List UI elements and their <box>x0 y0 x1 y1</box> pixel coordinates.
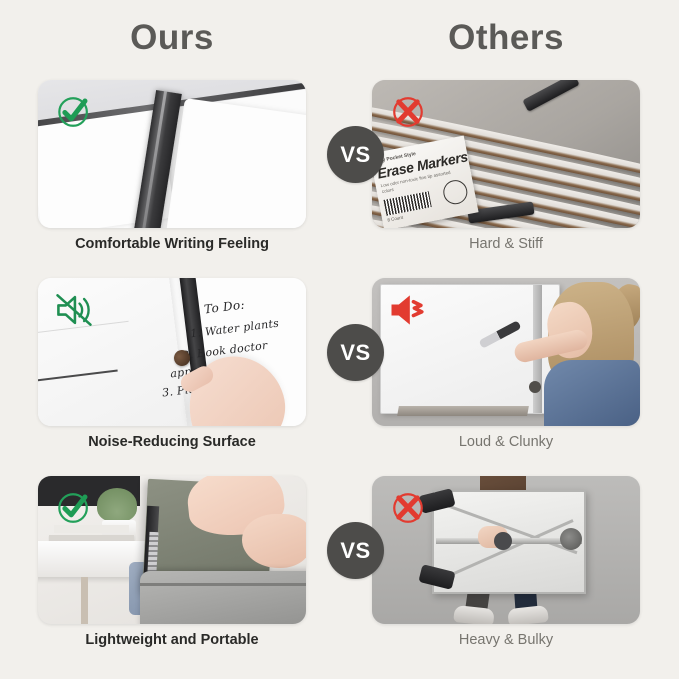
green-check-circle-icon <box>52 90 96 134</box>
red-x-circle-icon <box>386 90 430 134</box>
green-mute-speaker-icon <box>52 288 96 332</box>
vs-badge-row2: VS <box>327 324 384 381</box>
red-x-circle-icon <box>386 486 430 530</box>
comparison-infographic: Ours Others VS <box>0 0 679 679</box>
others-caption-noise: Loud & Clunky <box>372 432 640 452</box>
ours-image-portability <box>38 476 306 624</box>
ours-caption-noise: Noise-Reducing Surface <box>38 432 306 452</box>
vs-badge-row1: VS <box>327 126 384 183</box>
ours-image-writing-feel <box>38 80 306 228</box>
others-caption-writing-feel: Hard & Stiff <box>372 234 640 254</box>
ours-image-noise: To Do: 1. Water plants 2. Book doctor ap… <box>38 278 306 426</box>
vs-badge-row3: VS <box>327 522 384 579</box>
package-line-4: 8 Count <box>387 215 403 223</box>
others-image-portability <box>372 476 640 624</box>
green-check-circle-icon <box>52 486 96 530</box>
ours-caption-portability: Lightweight and Portable <box>38 630 306 650</box>
others-image-noise <box>372 278 640 426</box>
others-caption-portability: Heavy & Bulky <box>372 630 640 650</box>
red-loud-speaker-icon <box>386 288 430 332</box>
column-headers: Ours Others <box>0 0 679 72</box>
comparison-row-writing-feel: VS Dry Pocket Style E <box>0 72 679 270</box>
comparison-row-noise: To Do: 1. Water plants 2. Book doctor ap… <box>0 270 679 468</box>
ours-caption-writing-feel: Comfortable Writing Feeling <box>38 234 306 254</box>
package-barcode <box>384 191 432 215</box>
laptop-sleeve <box>140 571 306 624</box>
column-title-others: Others <box>372 18 640 58</box>
others-image-writing-feel: Dry Pocket Style Erase Markers Low odor … <box>372 80 640 228</box>
column-title-ours: Ours <box>38 18 306 58</box>
marker-package: Dry Pocket Style Erase Markers Low odor … <box>372 136 479 228</box>
comparison-row-portability: VS Lightweig <box>0 468 679 666</box>
